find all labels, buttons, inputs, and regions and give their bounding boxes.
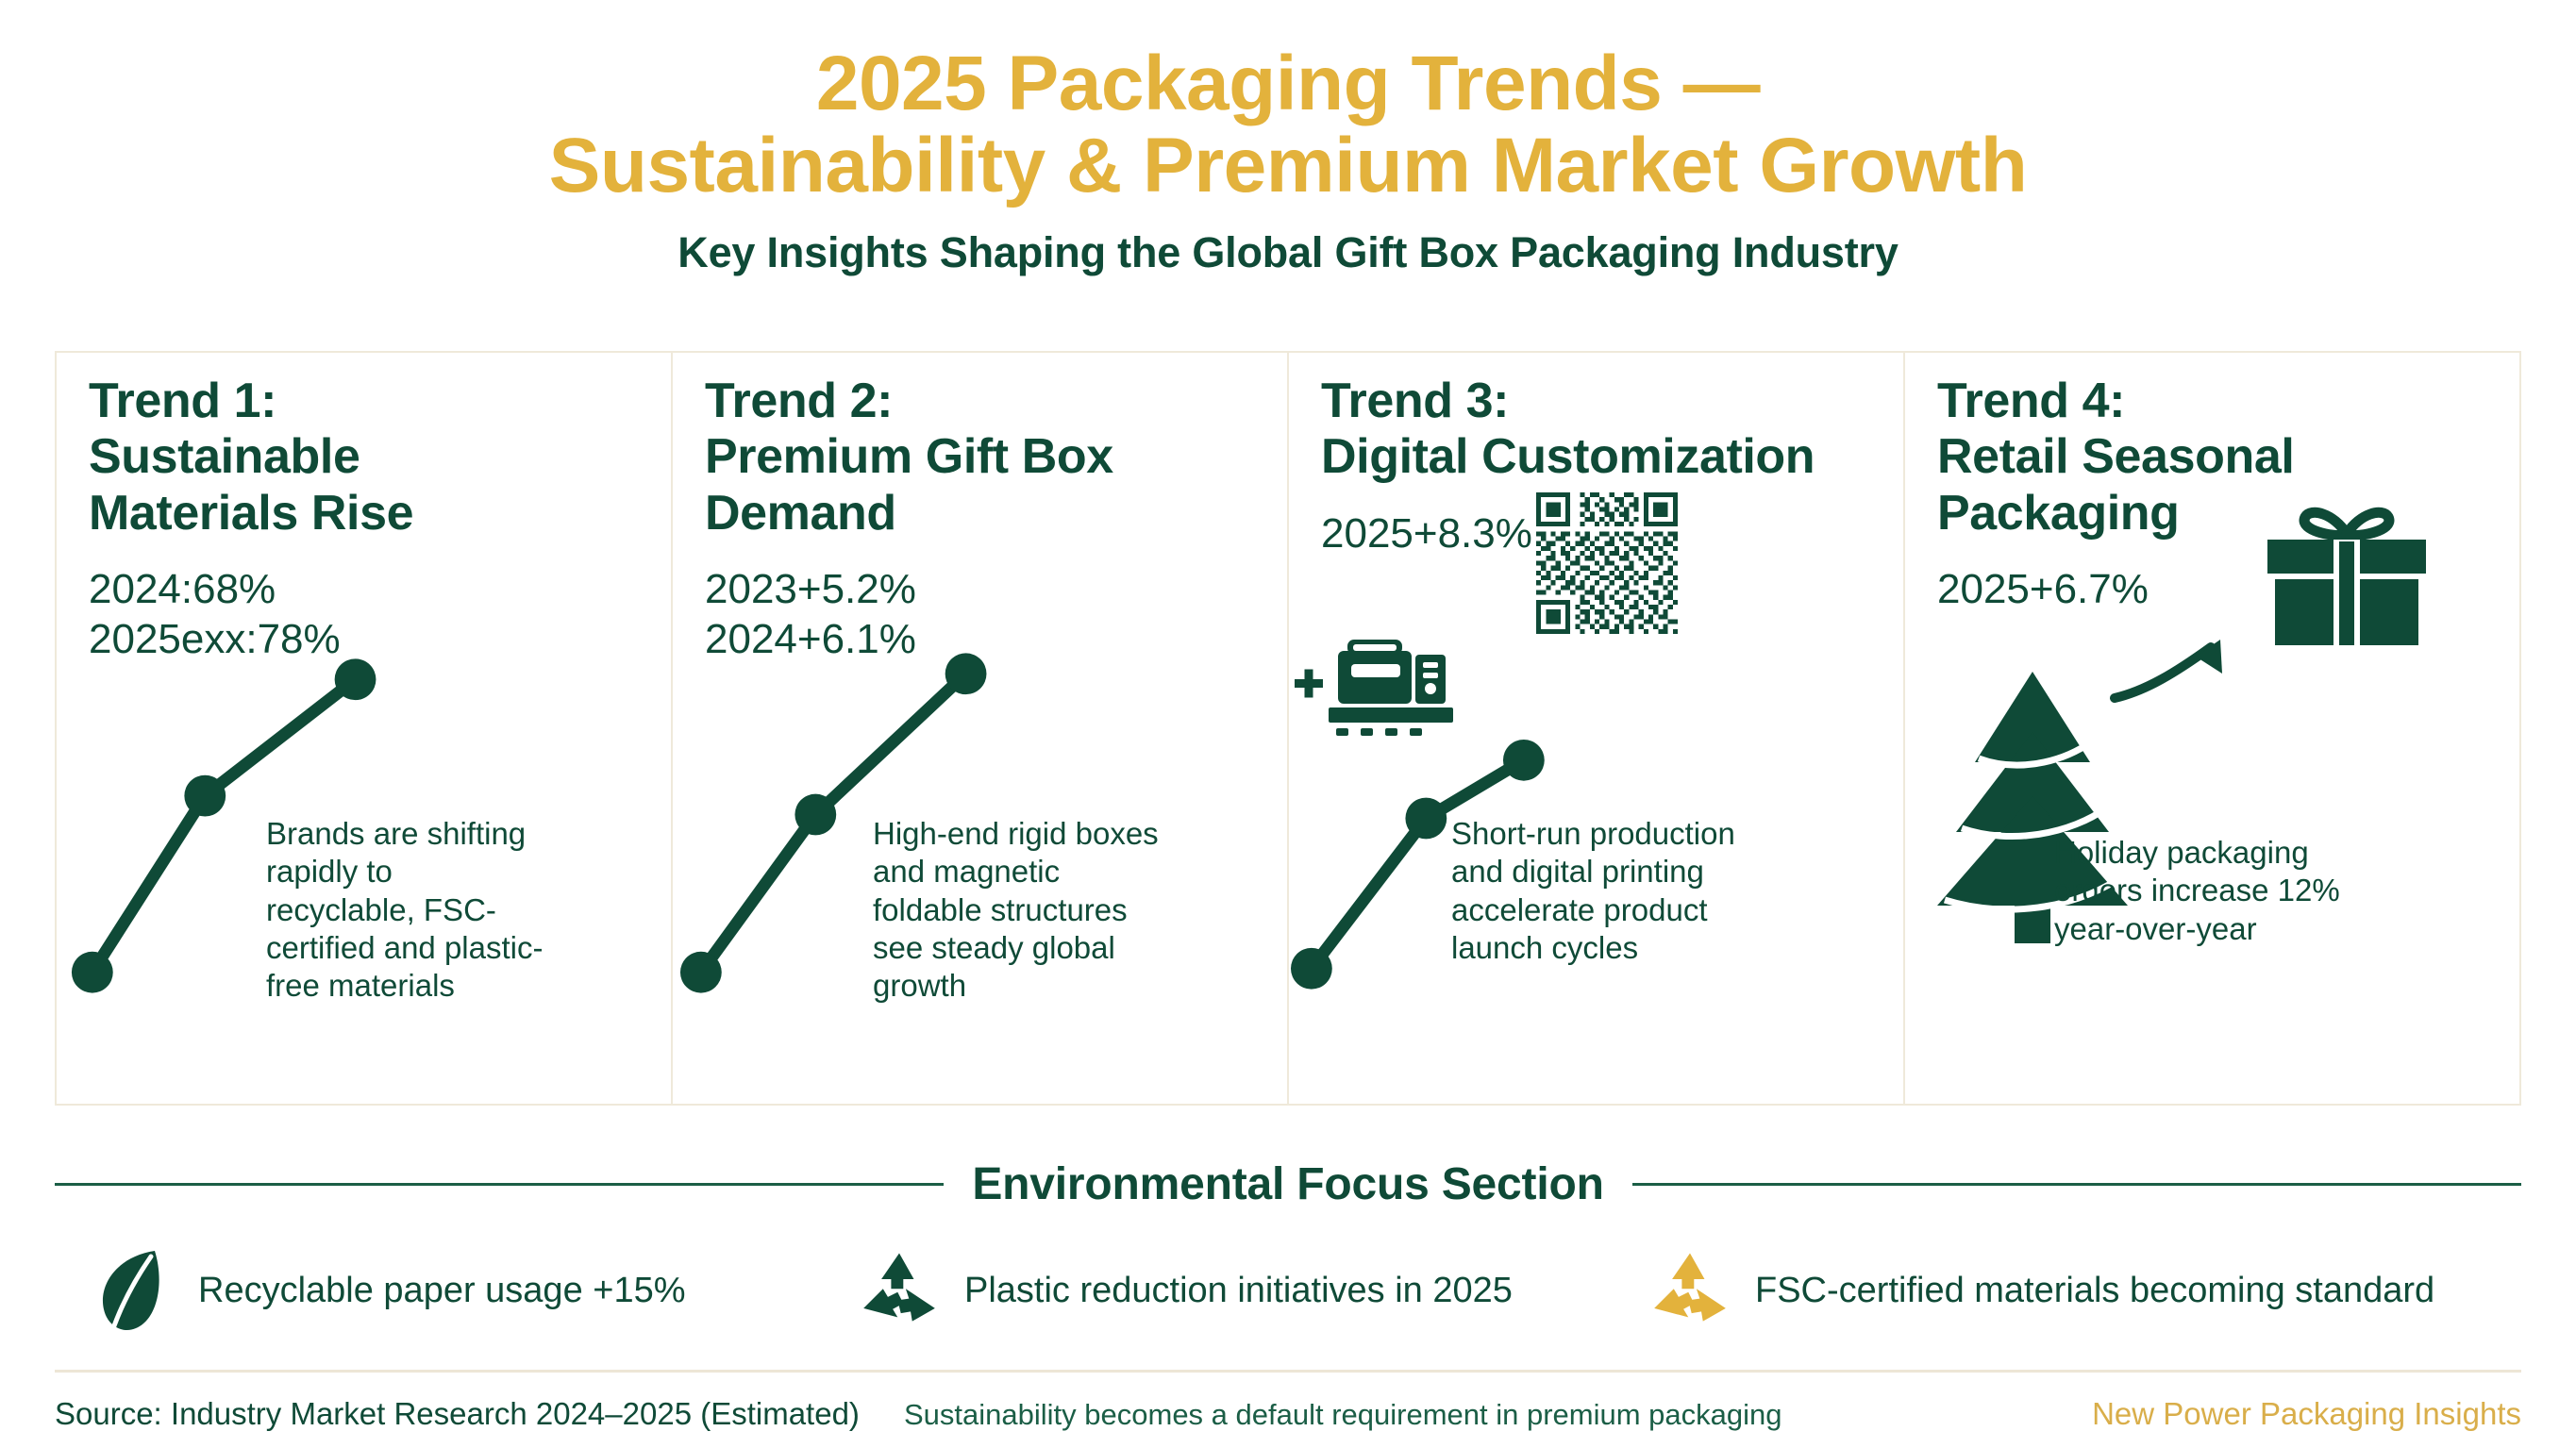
trend-card-4[interactable]: Trend 4: Retail Seasonal Packaging 2025+… <box>1905 353 2521 1104</box>
trend-card-1-title: Trend 1: Sustainable Materials Rise <box>89 374 639 541</box>
header: 2025 Packaging Trends — Sustainability &… <box>0 0 2576 277</box>
recycle-icon <box>1649 1243 1731 1338</box>
trend-card-1-note: Brands are shifting rapidly to recyclabl… <box>266 815 549 1005</box>
trend-card-1[interactable]: Trend 1: Sustainable Materials Rise 2024… <box>57 353 673 1104</box>
eco-label-fsc-certified: FSC-certified materials becoming standar… <box>1755 1271 2434 1311</box>
trend-card-3-note: Short-run production and digital printin… <box>1451 815 1791 967</box>
trend-card-4-stats: 2025+6.7% <box>1937 564 2487 615</box>
eco-label-recyclable-paper: Recyclable paper usage +15% <box>198 1271 686 1311</box>
eco-label-plastic-reduction: Plastic reduction initiatives in 2025 <box>964 1271 1513 1311</box>
eco-item-recyclable-paper[interactable]: Recyclable paper usage +15% <box>55 1243 828 1338</box>
eco-item-fsc-certified[interactable]: FSC-certified materials becoming standar… <box>1640 1243 2489 1338</box>
trend-card-4-title: Trend 4: Retail Seasonal Packaging <box>1937 374 2487 541</box>
title-line-2: Sustainability & Premium Market Growth <box>0 125 2576 208</box>
infographic-page: 2025 Packaging Trends — Sustainability &… <box>0 0 2576 1448</box>
trend-card-grid: Trend 1: Sustainable Materials Rise 2024… <box>55 351 2521 1106</box>
trend-card-2[interactable]: Trend 2: Premium Gift Box Demand 2023+5.… <box>673 353 1289 1104</box>
environmental-items: Recyclable paper usage +15% Plastic redu… <box>55 1243 2521 1338</box>
trend-card-3-stats: 2025+8.3% <box>1321 508 1871 559</box>
leaf-icon <box>92 1243 174 1338</box>
growth-arrow-icon <box>2109 632 2241 707</box>
page-title: 2025 Packaging Trends — Sustainability &… <box>0 43 2576 208</box>
trend-card-2-stats: 2023+5.2% 2024+6.1% <box>705 564 1255 665</box>
printing-press-icon <box>1293 626 1472 749</box>
trend-card-2-note: High-end rigid boxes and magnetic foldab… <box>873 815 1175 1005</box>
trend-card-3[interactable]: Trend 3: Digital Customization 2025+8.3% <box>1289 353 1905 1104</box>
eco-heading-label: Environmental Focus Section <box>972 1158 1603 1210</box>
environmental-focus-heading: Environmental Focus Section <box>55 1158 2521 1210</box>
trend-card-3-title: Trend 3: Digital Customization <box>1321 374 1871 486</box>
page-subtitle: Key Insights Shaping the Global Gift Box… <box>0 228 2576 277</box>
eco-rule-right <box>1632 1183 2521 1186</box>
footer-brand: New Power Packaging Insights <box>2092 1396 2521 1432</box>
footer-divider <box>55 1370 2521 1373</box>
footer-tagline: Sustainability becomes a default require… <box>904 1398 1782 1432</box>
trend-card-4-note: Holiday packaging orders increase 12% ye… <box>2054 834 2403 948</box>
trend-card-2-title: Trend 2: Premium Gift Box Demand <box>705 374 1255 541</box>
title-line-1: 2025 Packaging Trends — <box>816 41 1760 126</box>
footer-source: Source: Industry Market Research 2024–20… <box>55 1396 860 1432</box>
trend-card-1-stats: 2024:68% 2025exx:78% <box>89 564 639 665</box>
eco-item-plastic-reduction[interactable]: Plastic reduction initiatives in 2025 <box>828 1243 1640 1338</box>
recycle-icon <box>859 1243 940 1338</box>
eco-rule-left <box>55 1183 944 1186</box>
footer: Source: Industry Market Research 2024–20… <box>55 1396 2521 1439</box>
